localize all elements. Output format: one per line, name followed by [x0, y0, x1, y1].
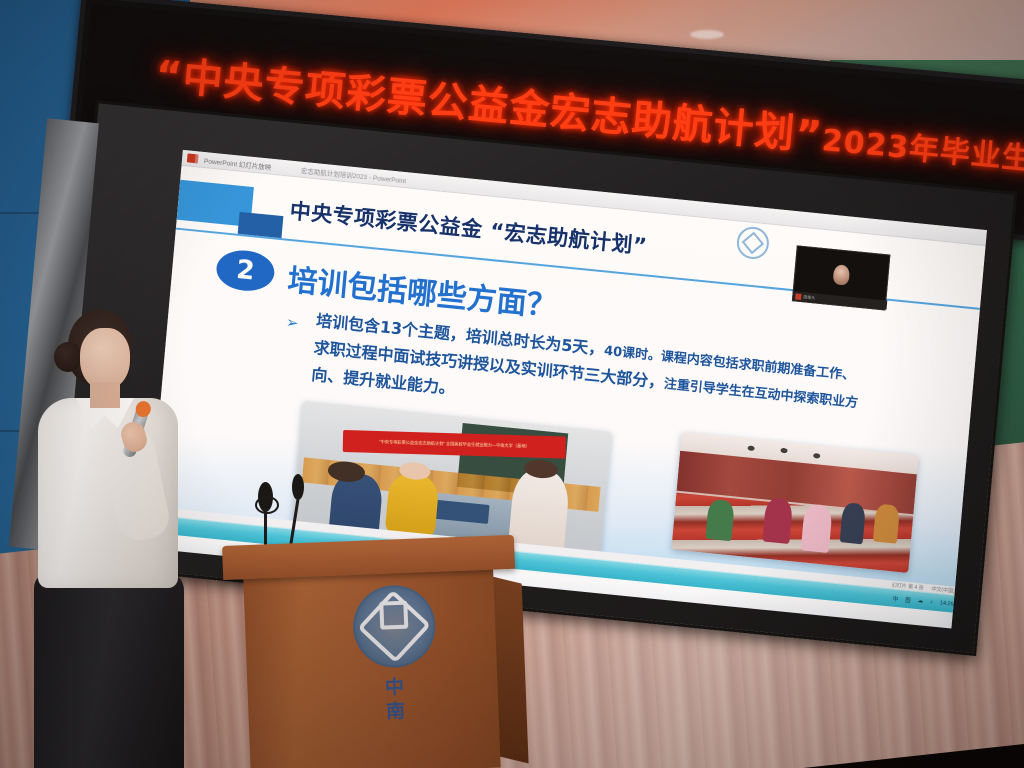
record-indicator-icon	[795, 293, 802, 300]
slide-photo-right	[671, 432, 918, 573]
taskbar-clock[interactable]: 14:26	[940, 600, 954, 607]
presenter-person	[18, 310, 198, 768]
bullet-line-3: 向、提升就业能力。	[311, 365, 456, 398]
webcam-presenter-thumbnail	[833, 264, 851, 286]
taskbar-item-3[interactable]: ♪	[930, 599, 933, 605]
photo-left-banner-text: “中央专项彩票公益金宏志助航计划” 全国高校毕业生就业能力—中南大学（基地）	[380, 439, 530, 449]
webcam-label: 摄像头	[803, 294, 815, 301]
webcam-statusbar: 摄像头	[793, 291, 887, 309]
webcam-overlay-window[interactable]: 摄像头	[792, 245, 891, 310]
ceiling-light-icon	[690, 30, 724, 39]
slide-header-accent	[177, 180, 254, 227]
bullet-arrow-icon: ➢	[285, 313, 299, 332]
presenter-skirt	[34, 572, 184, 768]
podium-vertical-text: 中南	[379, 675, 411, 724]
lectern-podium: 中南	[222, 535, 523, 768]
photo-scene: “中央专项彩票公益金宏志助航计划”2023年毕业生就业能力提升培训班-中南大学基…	[0, 0, 1024, 768]
taskbar-item-0[interactable]: 中	[892, 594, 898, 603]
university-seal-icon	[736, 225, 771, 260]
taskbar-item-1[interactable]: 图	[905, 595, 911, 604]
powerpoint-logo-icon	[187, 153, 199, 163]
presenter-face	[80, 328, 130, 390]
presenter-neck	[90, 382, 120, 408]
bullet-line-2b: 注重引导学生在互动中探索职业方	[663, 377, 858, 411]
presenter-hair-bun	[54, 342, 82, 372]
taskbar-item-2[interactable]: ☁	[917, 598, 923, 605]
section-number-badge: 2	[215, 248, 276, 294]
display-bezel: PowerPoint 幻灯片放映 宏志助航计划培训2023 - PowerPoi…	[55, 100, 1018, 656]
